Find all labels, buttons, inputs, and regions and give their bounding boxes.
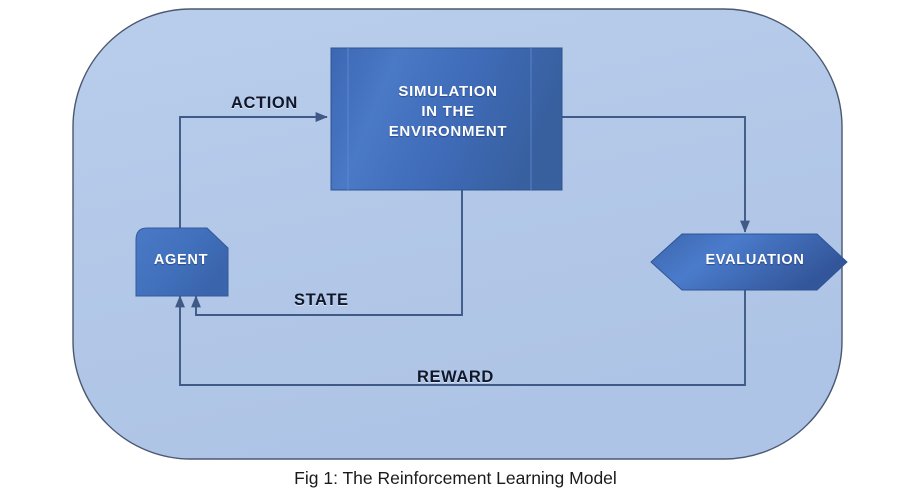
node-agent[interactable] [136,228,228,296]
diagram-stage: SIMULATION IN THE ENVIRONMENT AGENT EVAL… [0,0,911,465]
figure-caption: Fig 1: The Reinforcement Learning Model [0,468,911,489]
edge-action-label: ACTION [231,94,298,113]
diagram-canvas [0,0,911,465]
figure-container: SIMULATION IN THE ENVIRONMENT AGENT EVAL… [0,0,911,499]
node-evaluation[interactable] [651,234,847,290]
edge-reward-label: REWARD [417,368,494,387]
edge-state-label: STATE [294,291,349,310]
node-simulation[interactable] [331,48,562,190]
